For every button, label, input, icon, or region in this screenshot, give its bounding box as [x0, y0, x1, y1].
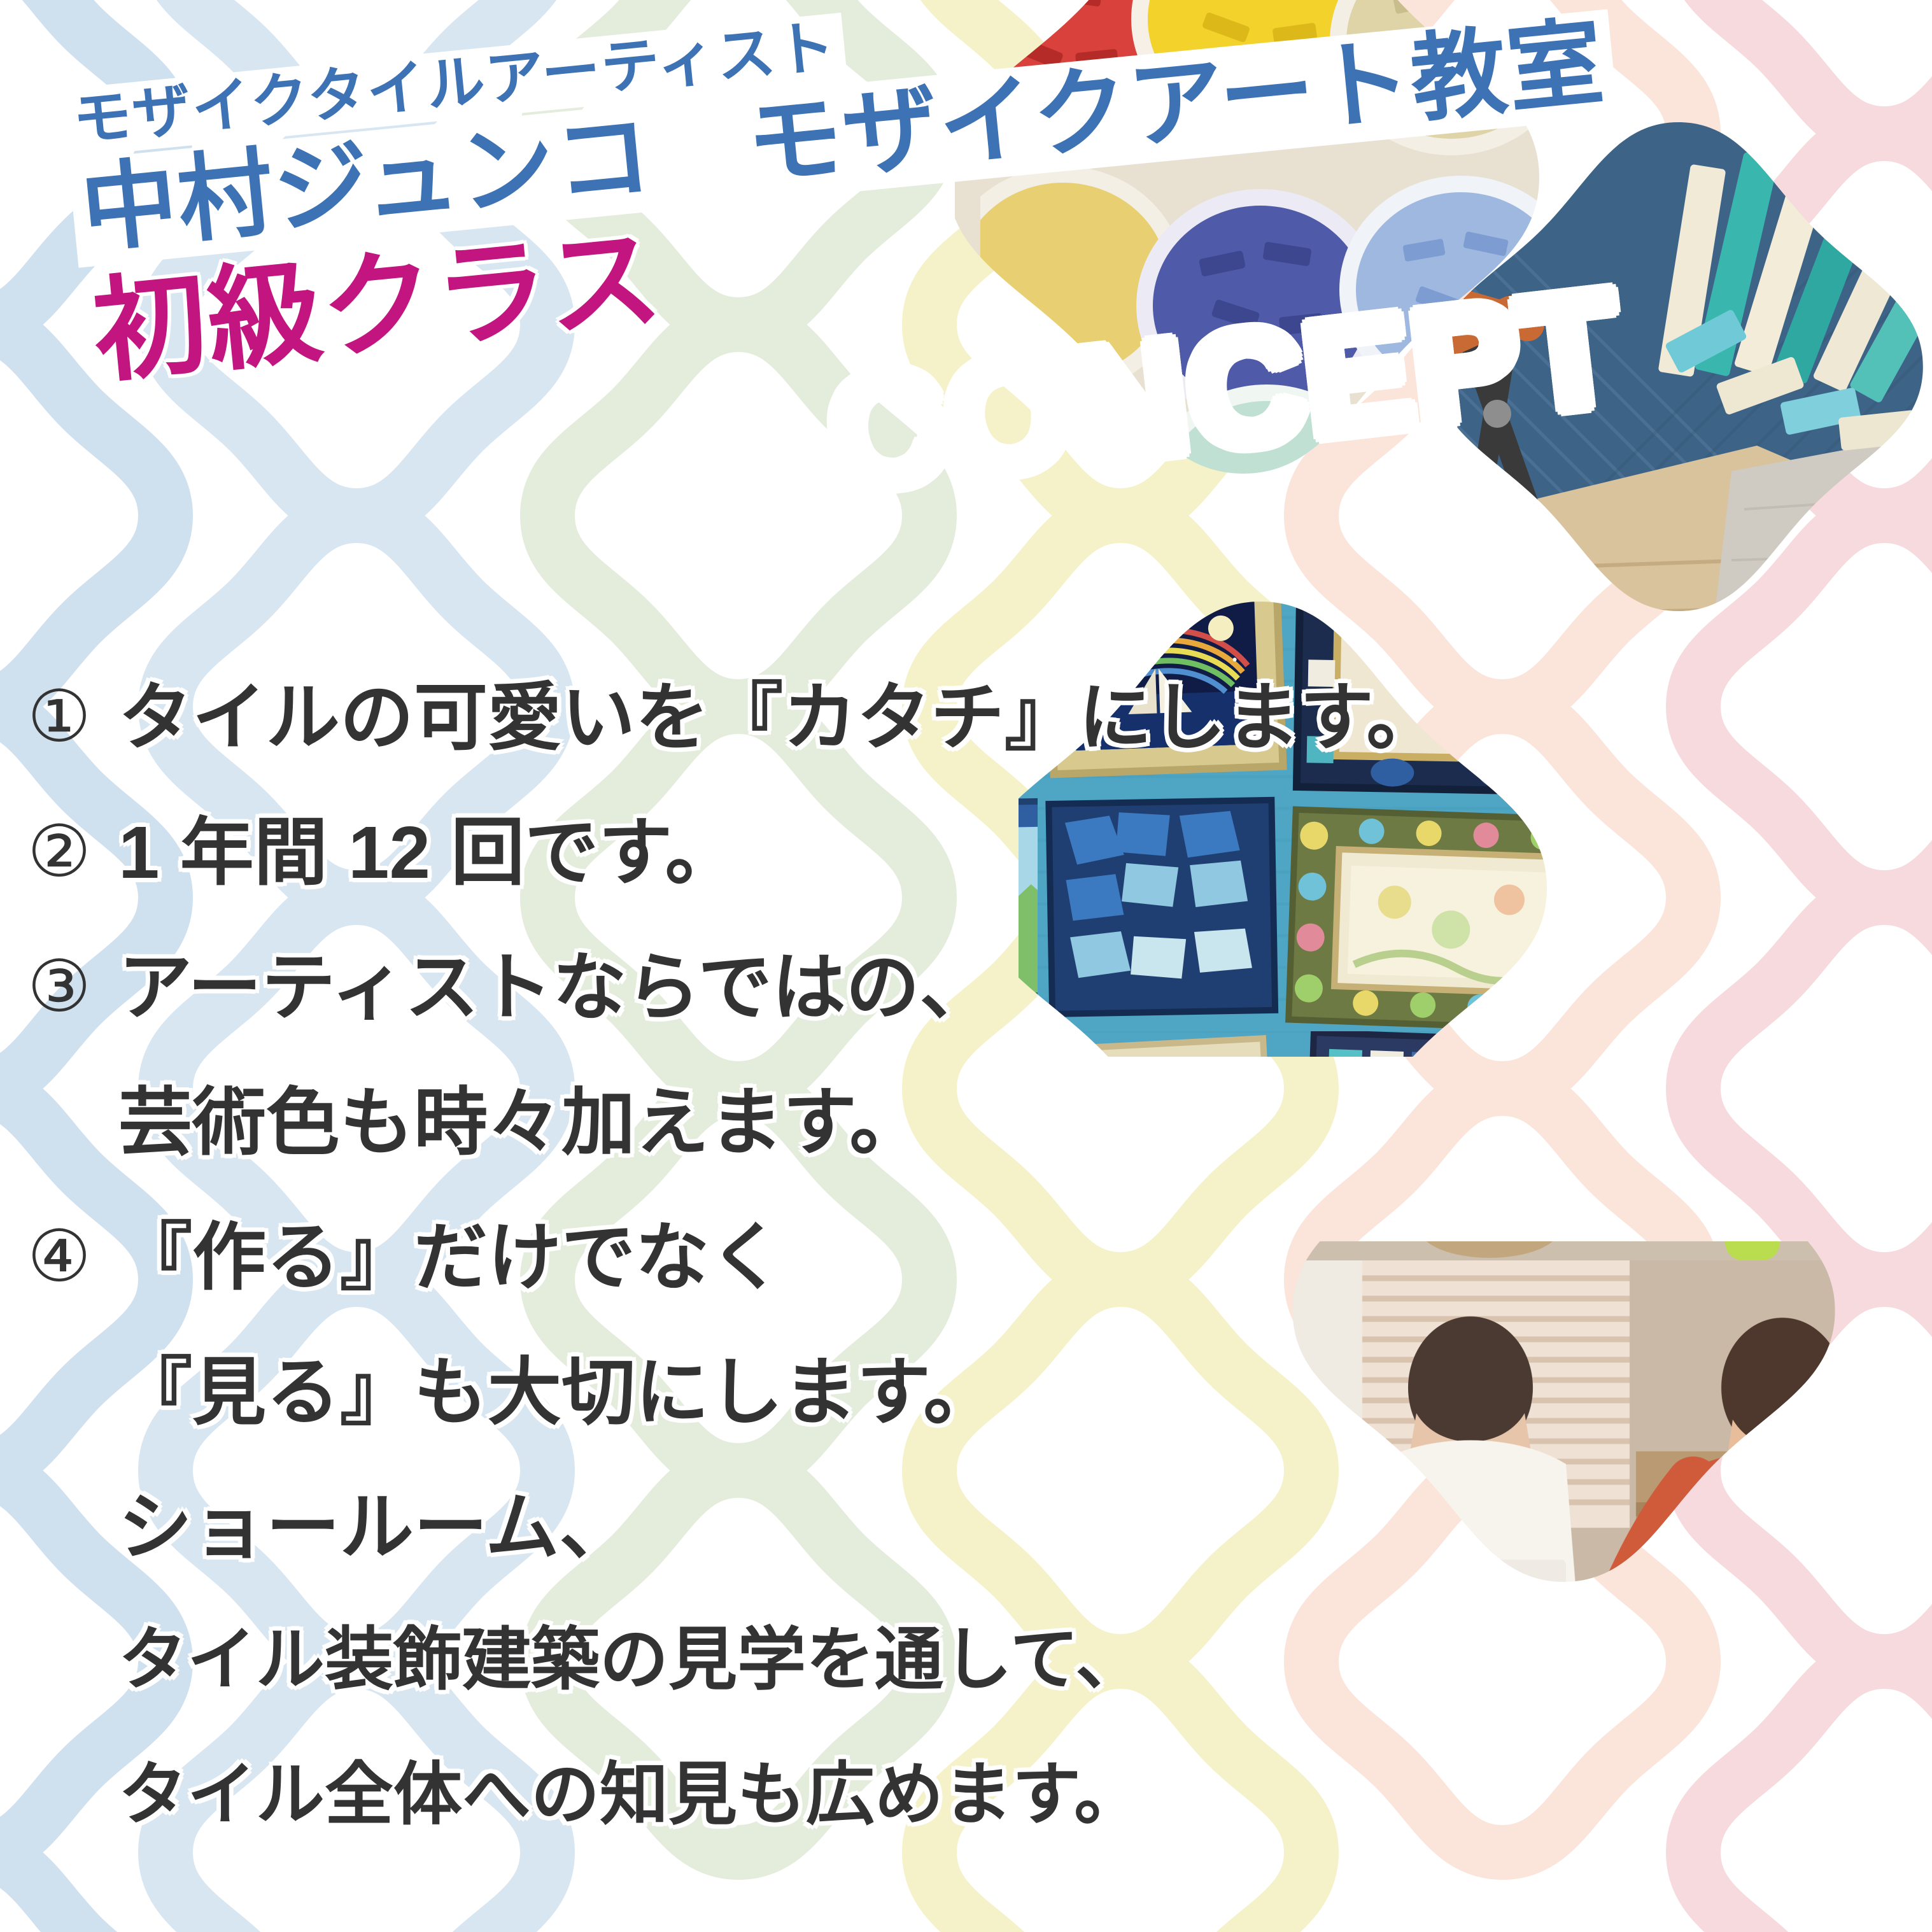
concept-row: ②1 年間 12 回です。	[0, 810, 1369, 945]
concept-item-number	[0, 1754, 118, 1761]
concept-item-text: 『見る』も大切にします。	[118, 1350, 1369, 1430]
poster-canvas: White	[0, 0, 1932, 1932]
concept-item-text: アーティストならではの、	[118, 945, 1369, 1025]
concept-list: ①タイルの可愛いを『カタチ』にします。②1 年間 12 回です。③アーティストな…	[0, 675, 1369, 1889]
concept-item-number: ①	[0, 675, 118, 752]
concept-row: ③アーティストならではの、	[0, 945, 1369, 1080]
concept-item-text: タイル全体への知見も広めます。	[118, 1754, 1369, 1830]
text-layer: モザイクタイルアーティスト 中村ジュンコ モザイクアート教室 初級クラス CON…	[0, 0, 1932, 1932]
concept-row: 芸術色も時々加えます。	[0, 1080, 1369, 1215]
concept-item-number: ③	[0, 945, 118, 1022]
concept-row: タイル装飾建築の見学を通して、	[0, 1619, 1369, 1754]
concept-row: 『見る』も大切にします。	[0, 1350, 1369, 1484]
concept-item-number: ②	[0, 810, 118, 887]
concept-item-text: 芸術色も時々加えます。	[118, 1080, 1369, 1160]
concept-row: ④『作る』だけでなく	[0, 1215, 1369, 1350]
concept-item-number	[0, 1080, 118, 1086]
concept-item-number	[0, 1350, 118, 1356]
concept-item-number	[0, 1484, 118, 1491]
concept-row: ショールーム、	[0, 1484, 1369, 1619]
concept-item-text: 1 年間 12 回です。	[118, 810, 1369, 890]
concept-item-text: ショールーム、	[118, 1484, 1369, 1565]
concept-item-text: タイル装飾建築の見学を通して、	[118, 1619, 1369, 1695]
concept-row: ①タイルの可愛いを『カタチ』にします。	[0, 675, 1369, 810]
concept-row: タイル全体への知見も広めます。	[0, 1754, 1369, 1889]
concept-item-text: タイルの可愛いを『カタチ』にします。	[118, 675, 1440, 755]
concept-item-number: ④	[0, 1215, 118, 1292]
concept-item-number	[0, 1619, 118, 1626]
concept-item-text: 『作る』だけでなく	[118, 1215, 1369, 1295]
